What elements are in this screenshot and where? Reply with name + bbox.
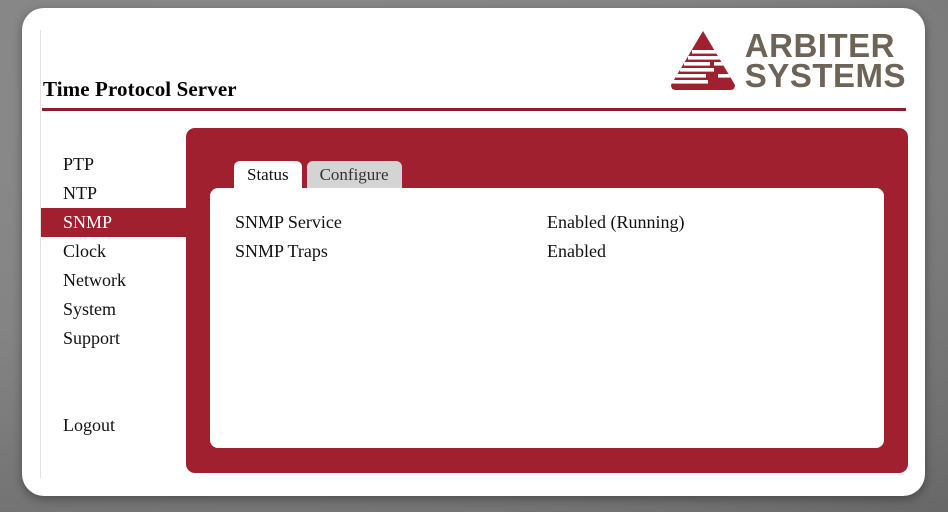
status-value-snmp-traps: Enabled [547,237,606,266]
brand-logo: ARBITER SYSTEMS [670,30,906,92]
tab-bar: Status Configure [234,161,402,188]
status-list: SNMP Service Enabled (Running) SNMP Trap… [235,208,855,266]
sidebar-item-ptp[interactable]: PTP [41,150,208,179]
brand-wordmark: ARBITER SYSTEMS [745,31,906,92]
status-value-snmp-service: Enabled (Running) [547,208,684,237]
status-panel: SNMP Service Enabled (Running) SNMP Trap… [210,188,884,448]
sidebar-item-support[interactable]: Support [41,324,208,353]
sidebar-item-logout[interactable]: Logout [41,411,208,440]
status-label-snmp-service: SNMP Service [235,208,547,237]
tab-configure[interactable]: Configure [307,161,402,188]
tab-status[interactable]: Status [234,161,302,188]
page-card: Time Protocol Server [22,8,925,496]
header-divider [42,108,906,111]
page-title: Time Protocol Server [43,77,237,102]
arbiter-pyramid-logo-icon [670,30,736,92]
status-label-snmp-traps: SNMP Traps [235,237,547,266]
sidebar-item-clock[interactable]: Clock [41,237,208,266]
status-row-snmp-traps: SNMP Traps Enabled [235,237,855,266]
page-header: Time Protocol Server [41,24,906,108]
sidebar-item-network[interactable]: Network [41,266,208,295]
status-row-snmp-service: SNMP Service Enabled (Running) [235,208,855,237]
sidebar-nav: PTP NTP SNMP Clock Network System Suppor… [41,150,208,440]
sidebar-spacer [41,353,208,411]
sidebar-item-snmp[interactable]: SNMP [41,208,208,237]
sidebar-item-ntp[interactable]: NTP [41,179,208,208]
brand-line-2: SYSTEMS [745,61,906,91]
sidebar-item-system[interactable]: System [41,295,208,324]
content-panel: Status Configure SNMP Service Enabled (R… [186,128,908,473]
